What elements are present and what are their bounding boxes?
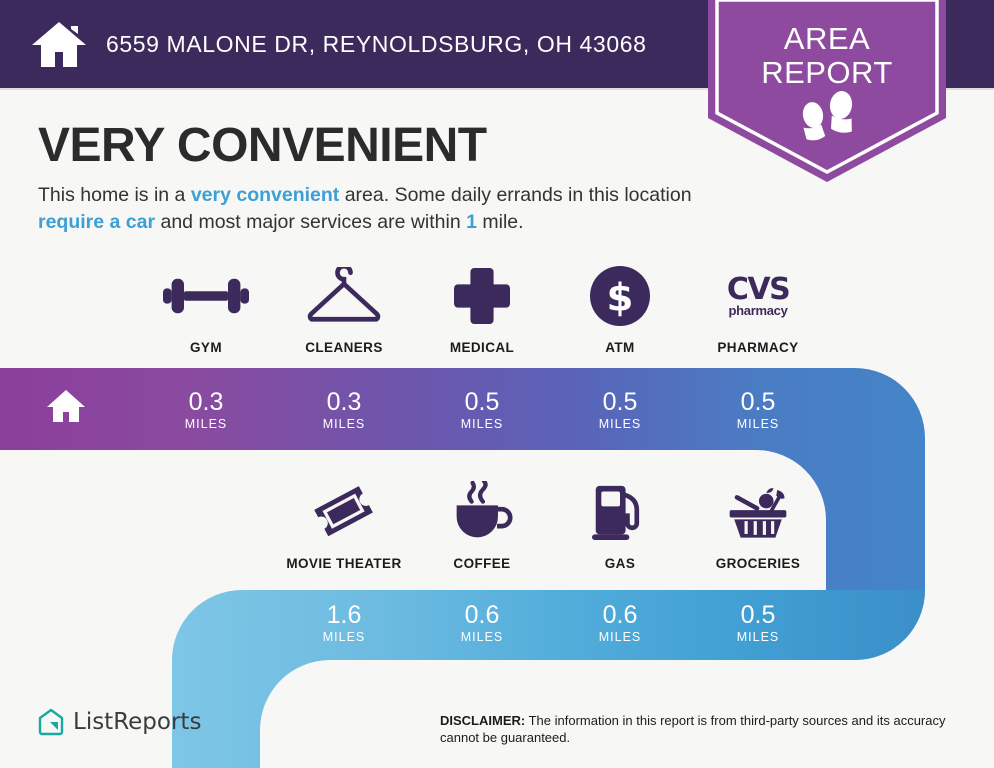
amenity-atm: $ ATM [551, 262, 689, 355]
distance-value: 0.5 [413, 388, 551, 416]
distance-unit: MILES [689, 417, 827, 431]
amenity-label: GYM [190, 340, 222, 355]
medical-cross-icon [454, 262, 510, 330]
distance-unit: MILES [551, 417, 689, 431]
distance-value: 0.5 [551, 388, 689, 416]
distance-unit: MILES [137, 417, 275, 431]
amenity-pharmacy: CVS pharmacy PHARMACY [689, 262, 827, 355]
distance-unit: MILES [413, 630, 551, 644]
distance-coffee: 0.6 MILES [413, 601, 551, 644]
distance-value: 0.3 [137, 388, 275, 416]
amenity-label: ATM [605, 340, 634, 355]
listreports-house-icon [38, 708, 64, 736]
desc-part-2: area. Some daily errands in this locatio… [339, 184, 691, 206]
amenity-label: CLEANERS [305, 340, 382, 355]
distance-pharmacy: 0.5 MILES [689, 388, 827, 431]
distance-value: 0.3 [275, 388, 413, 416]
distance-movie-theater: 1.6 MILES [275, 601, 413, 644]
amenity-label: MEDICAL [450, 340, 514, 355]
dumbbell-icon [163, 262, 249, 330]
brand-name: ListReports [73, 709, 201, 735]
listreports-logo: ListReports [38, 708, 201, 736]
svg-text:$: $ [607, 276, 634, 321]
distance-cleaners: 0.3 MILES [275, 388, 413, 431]
property-address: 6559 MALONE DR, REYNOLDSBURG, OH 43068 [106, 31, 647, 58]
cvs-pharmacy-logo: CVS pharmacy [727, 262, 789, 330]
distance-value: 1.6 [275, 601, 413, 629]
distance-gym: 0.3 MILES [137, 388, 275, 431]
amenity-label: PHARMACY [717, 340, 798, 355]
amenity-gym: GYM [137, 262, 275, 355]
desc-highlight-car: require a car [38, 211, 155, 233]
page-description: This home is in a very convenient area. … [38, 182, 703, 236]
distance-value: 0.5 [689, 601, 827, 629]
distance-unit: MILES [689, 630, 827, 644]
disclaimer: DISCLAIMER: The information in this repo… [440, 712, 960, 746]
distance-value: 0.6 [551, 601, 689, 629]
distance-unit: MILES [275, 630, 413, 644]
banner-line-2: REPORT [708, 56, 946, 90]
page-title: VERY CONVENIENT [38, 118, 487, 173]
distance-unit: MILES [551, 630, 689, 644]
desc-part-3: and most major services are within [155, 211, 466, 233]
hanger-icon [304, 262, 384, 330]
disclaimer-label: DISCLAIMER: [440, 713, 525, 728]
desc-highlight-miles: 1 [466, 211, 477, 233]
amenity-cleaners: CLEANERS [275, 262, 413, 355]
area-report-banner: AREA REPORT [708, 0, 946, 182]
banner-title: AREA REPORT [708, 22, 946, 90]
distance-value: 0.5 [689, 388, 827, 416]
cvs-subtext: pharmacy [727, 304, 789, 317]
cvs-wordmark: CVS [727, 275, 789, 305]
dollar-circle-icon: $ [590, 262, 650, 330]
distance-unit: MILES [275, 417, 413, 431]
distance-gas: 0.6 MILES [551, 601, 689, 644]
distance-atm: 0.5 MILES [551, 388, 689, 431]
distance-value: 0.6 [413, 601, 551, 629]
desc-part-4: mile. [477, 211, 524, 233]
desc-highlight-convenient: very convenient [191, 184, 339, 206]
banner-line-1: AREA [708, 22, 946, 56]
distance-medical: 0.5 MILES [413, 388, 551, 431]
desc-part-1: This home is in a [38, 184, 191, 206]
distance-groceries: 0.5 MILES [689, 601, 827, 644]
home-icon [46, 388, 86, 424]
amenity-icon-row-1: GYM CLEANERS MEDICAL $ ATM [137, 262, 827, 355]
distance-unit: MILES [413, 417, 551, 431]
amenity-medical: MEDICAL [413, 262, 551, 355]
home-icon [30, 18, 88, 70]
